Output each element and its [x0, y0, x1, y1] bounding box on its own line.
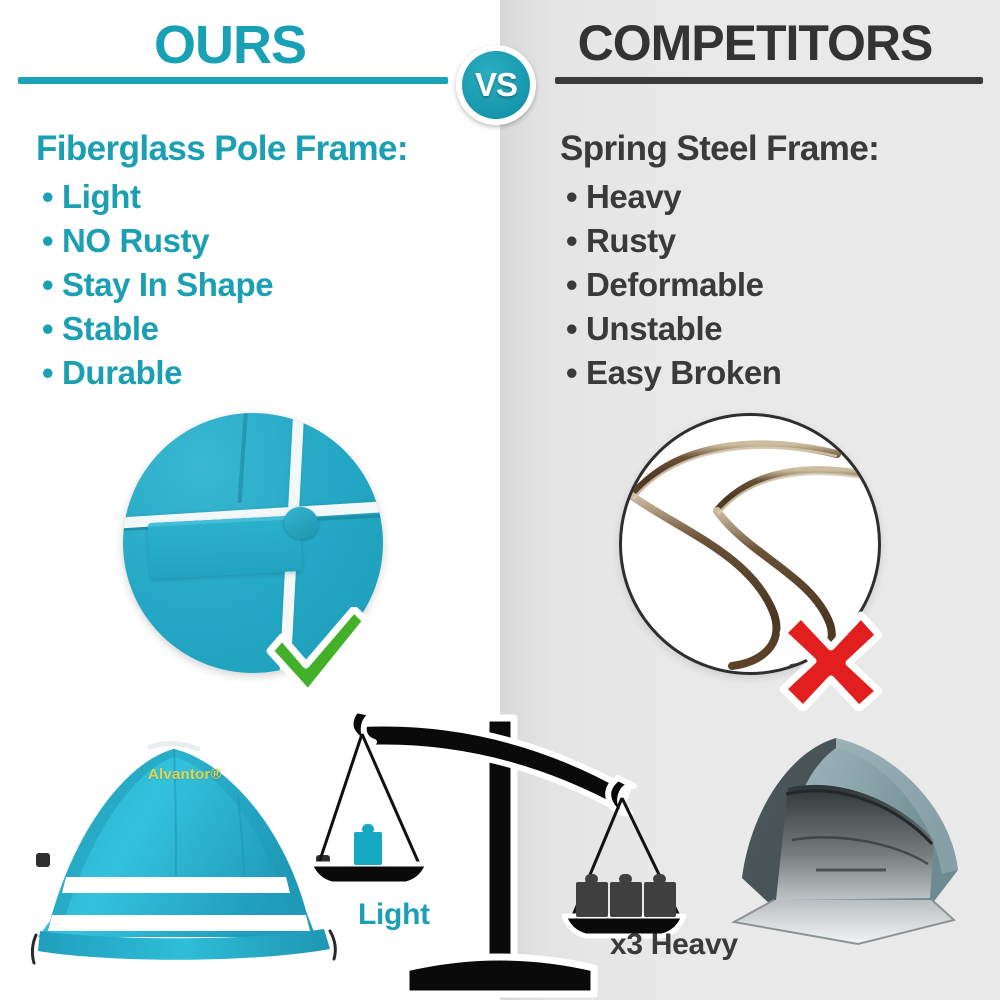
left-feature-list: Fiberglass Pole Frame: •Light •NO Rusty … [36, 128, 476, 394]
list-item: •Durable [42, 351, 476, 395]
bullet-glyph: • [566, 351, 586, 395]
list-item-label: Light [62, 178, 141, 215]
list-item-label: Durable [62, 354, 182, 391]
check-icon [262, 607, 372, 703]
list-item-label: Easy Broken [586, 354, 782, 391]
bullet-glyph: • [566, 307, 586, 351]
bullet-glyph: • [42, 263, 62, 307]
vs-badge: VS [456, 45, 536, 125]
bullet-glyph: • [42, 307, 62, 351]
bullet-glyph: • [42, 175, 62, 219]
bullet-glyph: • [566, 263, 586, 307]
right-list-items: •Heavy •Rusty •Deformable •Unstable •Eas… [560, 175, 980, 394]
bullet-glyph: • [566, 219, 586, 263]
fabric-pocket [148, 515, 303, 579]
list-item-label: Unstable [586, 310, 722, 347]
list-item-label: NO Rusty [62, 222, 209, 259]
vs-label: VS [475, 66, 517, 104]
light-weight-group [354, 824, 382, 865]
list-item: •Light [42, 175, 476, 219]
vs-badge-circle: VS [462, 51, 530, 119]
competitor-tent-image [718, 728, 988, 958]
heavy-pan-label: x3 Heavy [610, 928, 738, 962]
bullet-glyph: • [42, 219, 62, 263]
right-list-title: Spring Steel Frame: [560, 128, 980, 170]
list-item-label: Rusty [586, 222, 676, 259]
pole-knot [284, 507, 318, 539]
list-item: •Deformable [566, 263, 980, 307]
list-item: •Rusty [566, 219, 980, 263]
right-divider-rule [555, 77, 983, 84]
heavy-weight-group [576, 874, 676, 917]
competitors-title: COMPETITORS [520, 14, 990, 72]
list-item-label: Heavy [586, 178, 681, 215]
list-item: •Easy Broken [566, 351, 980, 395]
light-pan-label: Light [358, 898, 430, 932]
list-item-label: Deformable [586, 266, 764, 303]
left-list-title: Fiberglass Pole Frame: [36, 128, 476, 170]
list-item: •Unstable [566, 307, 980, 351]
left-list-items: •Light •NO Rusty •Stay In Shape •Stable … [36, 175, 476, 394]
list-item-label: Stable [62, 310, 159, 347]
list-item: •NO Rusty [42, 219, 476, 263]
ours-title: OURS [0, 14, 460, 76]
list-item-label: Stay In Shape [62, 266, 273, 303]
list-item: •Stay In Shape [42, 263, 476, 307]
bullet-glyph: • [42, 351, 62, 395]
right-feature-list: Spring Steel Frame: •Heavy •Rusty •Defor… [560, 128, 980, 394]
list-item: •Heavy [566, 175, 980, 219]
fabric-seam [238, 413, 249, 503]
list-item: •Stable [42, 307, 476, 351]
comparison-infographic: OURS COMPETITORS VS Fiberglass Pole Fram… [0, 0, 1000, 1000]
bullet-glyph: • [566, 175, 586, 219]
tent-brand-label: Alvantor® [148, 766, 222, 783]
cross-icon [779, 611, 883, 711]
left-divider-rule [18, 77, 448, 84]
